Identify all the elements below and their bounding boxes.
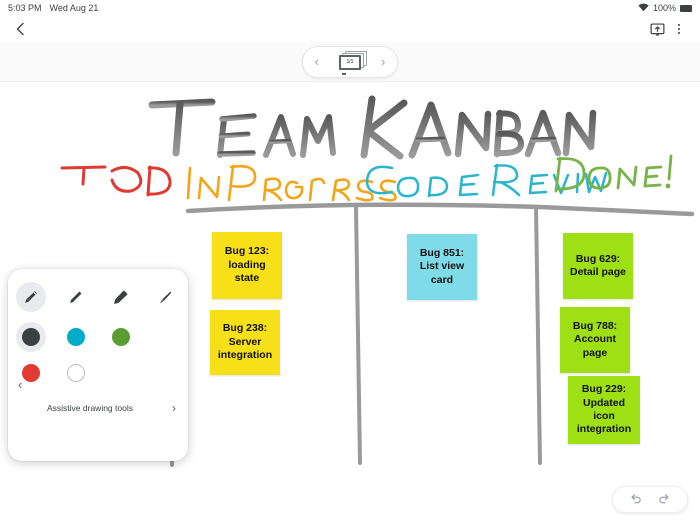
page-navigator: ‹ 1/1 › bbox=[302, 46, 399, 78]
redo-arrow-icon[interactable] bbox=[658, 493, 671, 506]
pages-icon-nub bbox=[342, 73, 346, 75]
pencil-icon bbox=[67, 289, 84, 306]
page-indicator-label: 1/1 bbox=[339, 55, 361, 70]
status-bar-left: 5:03 PM Wed Aug 21 bbox=[8, 3, 98, 13]
assistive-drawing-tools-row[interactable]: Assistive drawing tools › bbox=[8, 395, 188, 421]
column-header-done-ink bbox=[556, 156, 671, 191]
status-bar: 5:03 PM Wed Aug 21 100% bbox=[0, 0, 700, 16]
sticky-note[interactable]: Bug 788: Account page bbox=[560, 307, 630, 373]
pages-stack-icon[interactable]: 1/1 bbox=[333, 50, 367, 74]
wifi-icon bbox=[638, 3, 649, 14]
color-swatch-red[interactable] bbox=[8, 355, 53, 391]
marker-icon bbox=[112, 289, 129, 306]
cast-screen-icon[interactable] bbox=[646, 18, 668, 40]
sticky-note[interactable]: Bug 229: Updated icon integration bbox=[568, 376, 640, 444]
swatch-dot bbox=[112, 328, 130, 346]
sticky-note[interactable]: Bug 123: loading state bbox=[212, 232, 282, 299]
status-date: Wed Aug 21 bbox=[50, 3, 99, 13]
undo-arrow-icon[interactable] bbox=[629, 493, 642, 506]
pen-tool-button[interactable] bbox=[8, 279, 53, 315]
column-header-todo-ink bbox=[62, 167, 170, 195]
pen-tools-row bbox=[8, 279, 188, 315]
pencil-tool-button[interactable] bbox=[53, 279, 98, 315]
color-swatch-black[interactable] bbox=[8, 319, 53, 355]
assistive-drawing-tools-label: Assistive drawing tools bbox=[8, 403, 172, 413]
prev-page-button[interactable]: ‹ bbox=[315, 55, 319, 68]
drawing-tools-panel: ‹ Assistive drawing tools › bbox=[8, 269, 188, 461]
more-options-icon[interactable] bbox=[668, 18, 690, 40]
battery-percent-label: 100% bbox=[653, 3, 676, 13]
back-chevron-icon[interactable] bbox=[10, 18, 32, 40]
pen-icon bbox=[22, 289, 39, 306]
column-header-inprogress-ink bbox=[188, 166, 395, 200]
whiteboard-app: 5:03 PM Wed Aug 21 100% bbox=[0, 0, 700, 525]
chevron-right-icon[interactable]: › bbox=[172, 401, 176, 415]
sticky-note[interactable]: Bug 629: Detail page bbox=[563, 233, 633, 299]
page-toolbar: ‹ 1/1 › bbox=[0, 42, 700, 82]
status-bar-right: 100% bbox=[638, 3, 692, 14]
next-page-button[interactable]: › bbox=[381, 55, 385, 68]
swatch-dot bbox=[157, 328, 175, 346]
marker-tool-button[interactable] bbox=[98, 279, 143, 315]
brush-tool-button[interactable] bbox=[143, 279, 188, 315]
app-bar bbox=[0, 16, 700, 42]
color-swatch-cyan[interactable] bbox=[53, 319, 98, 355]
sticky-note[interactable]: Bug 851: List view card bbox=[407, 234, 477, 300]
undo-redo-toolbar bbox=[612, 486, 688, 513]
color-swatch-grid bbox=[8, 319, 188, 391]
brush-icon bbox=[157, 289, 174, 306]
color-swatch-amber[interactable] bbox=[143, 319, 188, 355]
swatch-dot bbox=[67, 364, 85, 382]
swatch-dot bbox=[22, 364, 40, 382]
color-swatch-green[interactable] bbox=[98, 319, 143, 355]
swatch-dot bbox=[22, 328, 40, 346]
chevron-left-icon[interactable]: ‹ bbox=[18, 377, 22, 392]
whiteboard-canvas[interactable]: Bug 123: loading stateBug 238: Server in… bbox=[0, 83, 700, 525]
battery-full-icon bbox=[680, 5, 692, 12]
sticky-note[interactable]: Bug 238: Server integration bbox=[210, 310, 280, 375]
swatch-dot bbox=[67, 328, 85, 346]
color-swatch-white[interactable] bbox=[53, 355, 98, 391]
column-header-codereview-ink bbox=[367, 165, 606, 196]
board-title-ink bbox=[152, 99, 593, 156]
status-time: 5:03 PM bbox=[8, 3, 42, 13]
